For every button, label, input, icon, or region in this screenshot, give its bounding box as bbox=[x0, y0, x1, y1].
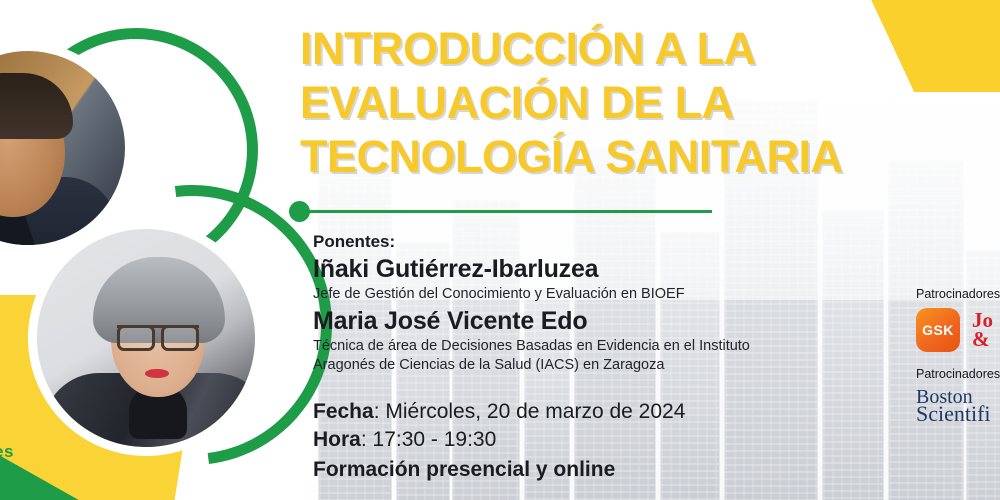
johnson-logo: Jo & bbox=[972, 311, 993, 349]
divider-bar bbox=[308, 210, 712, 213]
sponsors-label-1: Patrocinadores P bbox=[916, 286, 1000, 302]
speaker-2: Maria José Vicente Edo Técnica de área d… bbox=[313, 306, 833, 375]
event-time-label: Hora bbox=[313, 428, 361, 451]
event-time-value: : 17:30 - 19:30 bbox=[361, 428, 496, 451]
schedule-section: Fecha: Miércoles, 20 de marzo de 2024 Ho… bbox=[313, 398, 685, 484]
page-title: INTRODUCCIÓN A LA EVALUACIÓN DE LA TECNO… bbox=[300, 22, 970, 184]
event-time: Hora: 17:30 - 19:30 bbox=[313, 426, 685, 454]
title-line-3: TECNOLOGÍA SANITARIA bbox=[300, 130, 970, 184]
boston-scientific-logo: Boston Scientifi bbox=[916, 388, 1000, 423]
sponsor-logos-row-1: GSK Jo & bbox=[916, 308, 1000, 352]
title-line-1: INTRODUCCIÓN A LA bbox=[300, 22, 970, 76]
title-line-2: EVALUACIÓN DE LA bbox=[300, 76, 970, 130]
avatar-hair bbox=[0, 73, 73, 139]
sponsors-section: Patrocinadores P GSK Jo & Patrocinadores… bbox=[916, 286, 1000, 423]
glasses-icon bbox=[117, 325, 199, 348]
speaker-1-name: Iñaki Gutiérrez-Ibarluzea bbox=[313, 254, 833, 285]
event-date: Fecha: Miércoles, 20 de marzo de 2024 bbox=[313, 398, 685, 426]
speakers-label: Ponentes: bbox=[313, 230, 833, 254]
event-mode: Formación presencial y online bbox=[313, 456, 685, 484]
speaker-1-role: Jefe de Gestión del Conocimiento y Evalu… bbox=[313, 285, 833, 304]
speaker-1: Iñaki Gutiérrez-Ibarluzea Jefe de Gestió… bbox=[313, 254, 833, 304]
speakers-section: Ponentes: Iñaki Gutiérrez-Ibarluzea Jefe… bbox=[313, 230, 833, 375]
event-date-value: : Miércoles, 20 de marzo de 2024 bbox=[374, 400, 686, 423]
event-date-label: Fecha bbox=[313, 400, 374, 423]
event-banner: es INTRODUCCIÓN A LA EVALUACIÓN DE LA TE… bbox=[0, 0, 1000, 500]
divider-dot bbox=[289, 201, 310, 222]
speaker-2-name: Maria José Vicente Edo bbox=[313, 306, 833, 337]
gsk-logo: GSK bbox=[916, 308, 960, 352]
boston-logo-line-2: Scientifi bbox=[916, 404, 1000, 423]
avatar-speaker-2 bbox=[28, 220, 264, 456]
johnson-logo-line-2: & bbox=[972, 330, 993, 349]
title-divider bbox=[289, 201, 712, 222]
sponsors-label-2: Patrocinadores P bbox=[916, 366, 1000, 382]
avatar-lips bbox=[145, 369, 169, 378]
speaker-2-role-line-2: Aragonés de Ciencias de la Salud (IACS) … bbox=[313, 356, 833, 375]
corner-word-fragment: es bbox=[0, 442, 14, 462]
gsk-logo-text: GSK bbox=[922, 322, 954, 338]
speaker-2-role-line-1: Técnica de área de Decisiones Basadas en… bbox=[313, 337, 833, 356]
